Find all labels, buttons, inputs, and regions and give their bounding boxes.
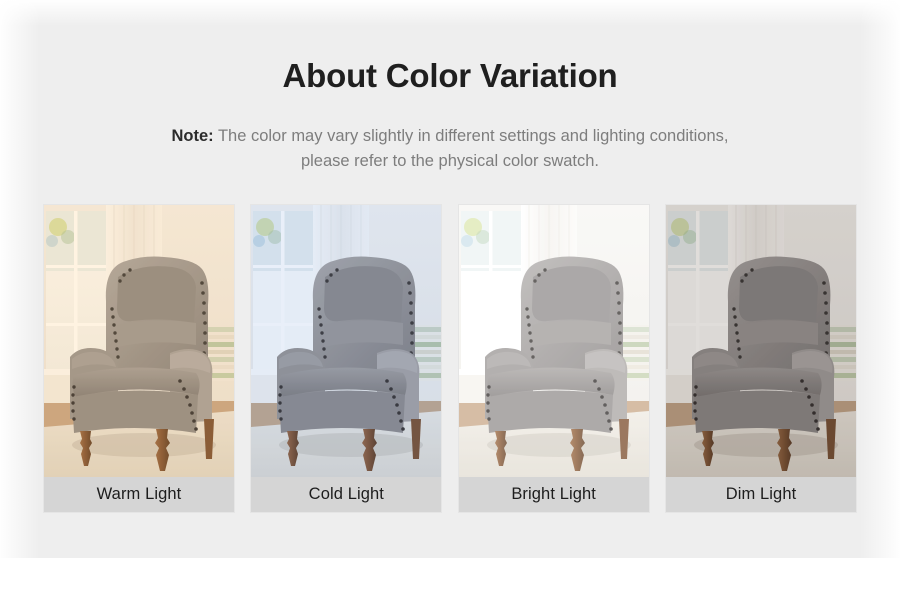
chair-photo-bright bbox=[459, 205, 649, 477]
room-scene-illustration bbox=[44, 205, 234, 477]
chair-photo-cold bbox=[251, 205, 441, 477]
lighting-panel-warm[interactable]: Warm Light bbox=[44, 205, 234, 512]
panel-caption-cold: Cold Light bbox=[251, 477, 441, 512]
room-scene-illustration bbox=[251, 205, 441, 477]
color-variation-note: Note: The color may vary slightly in dif… bbox=[0, 124, 900, 174]
note-line-2: please refer to the physical color swatc… bbox=[301, 152, 599, 170]
lighting-panel-grid: Warm Light bbox=[44, 205, 856, 512]
room-scene-illustration bbox=[459, 205, 649, 477]
lighting-panel-bright[interactable]: Bright Light bbox=[459, 205, 649, 512]
color-variation-page: About Color Variation Note: The color ma… bbox=[0, 0, 900, 594]
panel-caption-warm: Warm Light bbox=[44, 477, 234, 512]
note-label: Note: bbox=[171, 127, 213, 145]
panel-caption-bright: Bright Light bbox=[459, 477, 649, 512]
chair-photo-warm bbox=[44, 205, 234, 477]
page-title: About Color Variation bbox=[0, 57, 900, 95]
room-scene-illustration bbox=[666, 205, 856, 477]
bottom-white-margin bbox=[0, 558, 900, 594]
lighting-panel-dim[interactable]: Dim Light bbox=[666, 205, 856, 512]
note-line-1: The color may vary slightly in different… bbox=[218, 127, 729, 145]
lighting-panel-cold[interactable]: Cold Light bbox=[251, 205, 441, 512]
chair-photo-dim bbox=[666, 205, 856, 477]
panel-caption-dim: Dim Light bbox=[666, 477, 856, 512]
